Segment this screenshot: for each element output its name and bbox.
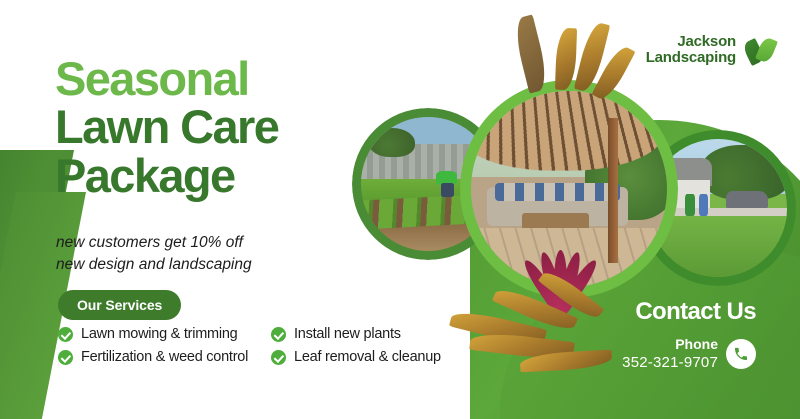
- brand-line-2: Landscaping: [646, 50, 736, 66]
- subheadline-line-2: new design and landscaping: [56, 254, 252, 276]
- brand-line-1: Jackson: [646, 34, 736, 50]
- two-leaf-icon: [744, 35, 778, 65]
- subheadline-line-1: new customers get 10% off: [56, 232, 252, 254]
- our-services-badge: Our Services: [58, 290, 181, 320]
- check-circle-icon: [58, 350, 73, 365]
- phone-icon[interactable]: [726, 339, 756, 369]
- contact-block: Contact Us Phone 352-321-9707: [622, 300, 756, 372]
- service-label: Leaf removal & cleanup: [294, 349, 441, 365]
- phone-number[interactable]: 352-321-9707: [622, 354, 718, 373]
- headline-block: Seasonal Lawn Care Package: [55, 55, 278, 201]
- service-label: Install new plants: [294, 326, 401, 342]
- service-item: Install new plants: [271, 326, 441, 342]
- service-item: Fertilization & weed control: [58, 349, 263, 365]
- service-label: Lawn mowing & trimming: [81, 326, 237, 342]
- service-label: Fertilization & weed control: [81, 349, 248, 365]
- phone-row[interactable]: Phone 352-321-9707: [622, 336, 756, 372]
- headline-line-3: Package: [55, 151, 278, 200]
- subheadline-block: new customers get 10% off new design and…: [56, 232, 252, 276]
- check-circle-icon: [58, 327, 73, 342]
- contact-title: Contact Us: [622, 300, 756, 324]
- headline-line-1: Seasonal: [55, 55, 278, 102]
- service-item: Lawn mowing & trimming: [58, 326, 263, 342]
- phone-text: Phone 352-321-9707: [622, 336, 718, 372]
- service-item: Leaf removal & cleanup: [271, 349, 441, 365]
- check-circle-icon: [271, 327, 286, 342]
- brand-logo[interactable]: Jackson Landscaping: [646, 34, 778, 66]
- services-list: Lawn mowing & trimming Install new plant…: [58, 326, 441, 365]
- check-circle-icon: [271, 350, 286, 365]
- brand-name: Jackson Landscaping: [646, 34, 736, 66]
- headline-line-2: Lawn Care: [55, 102, 278, 151]
- landscaping-promo-banner: Jackson Landscaping Seasonal Lawn Care P…: [0, 0, 800, 419]
- phone-label: Phone: [622, 336, 718, 354]
